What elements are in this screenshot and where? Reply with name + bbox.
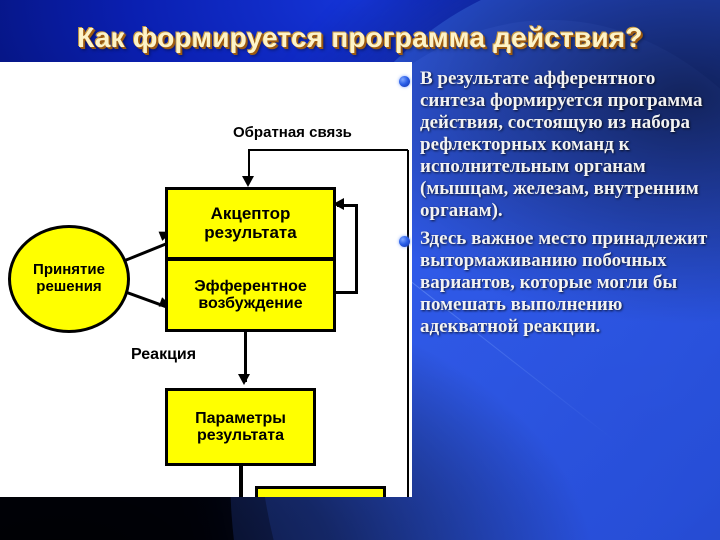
bullet-item-2-text: Здесь важное место принадлежит вытормажи… — [420, 228, 712, 338]
feedback-arrowhead-icon — [242, 176, 254, 187]
diagram-node-decision[interactable]: Принятие решения — [8, 225, 130, 333]
diagram-node-efferent-line2: возбуждение — [198, 295, 302, 312]
diagram-node-acceptor[interactable]: Акцептор результата — [165, 187, 336, 259]
diagram-node-parameters-line2: результата — [197, 427, 284, 444]
edge-label-feedback: Обратная связь — [233, 124, 352, 141]
bullet-item-1-text: В результате афферентного синтеза формир… — [420, 68, 712, 222]
decision-acceptor-arrow-line — [124, 241, 170, 262]
diagram-node-parameters-line1: Параметры — [195, 410, 286, 427]
edge-label-reaction: Реакция — [131, 346, 196, 364]
reaction-arrowhead-icon — [238, 374, 250, 385]
diagram-panel: Обратная связь Реакция Принятие решения … — [0, 62, 412, 497]
slide-title: Как формируется программа действия? — [0, 22, 720, 54]
bullet-item-2: Здесь важное место принадлежит вытормажи… — [420, 228, 712, 338]
efferent-acceptor-loop-vertical — [355, 204, 358, 294]
bullet-item-1: В результате афферентного синтеза формир… — [420, 68, 712, 222]
diagram-node-efferent-line1: Эфферентное — [194, 278, 307, 295]
feedback-line-horizontal — [248, 149, 408, 151]
bullet-list: В результате афферентного синтеза формир… — [420, 68, 712, 344]
diagram-node-receptors[interactable]: Рецепторы результата — [255, 486, 386, 497]
efferent-acceptor-loop-bottom — [336, 291, 358, 294]
bullet-dot-icon — [399, 76, 410, 87]
diagram-node-decision-line2: решения — [36, 279, 101, 296]
diagram-node-parameters[interactable]: Параметры результата — [165, 388, 316, 466]
feedback-rail-vertical — [407, 150, 409, 497]
diagram-node-acceptor-line1: Акцептор — [211, 205, 291, 223]
parameters-receptors-line-vertical — [239, 466, 243, 497]
diagram-node-efferent[interactable]: Эфферентное возбуждение — [165, 259, 336, 332]
slide: Как формируется программа действия? Обра… — [0, 0, 720, 540]
diagram-node-decision-line1: Принятие — [33, 262, 105, 279]
diagram-node-acceptor-line2: результата — [204, 224, 296, 242]
